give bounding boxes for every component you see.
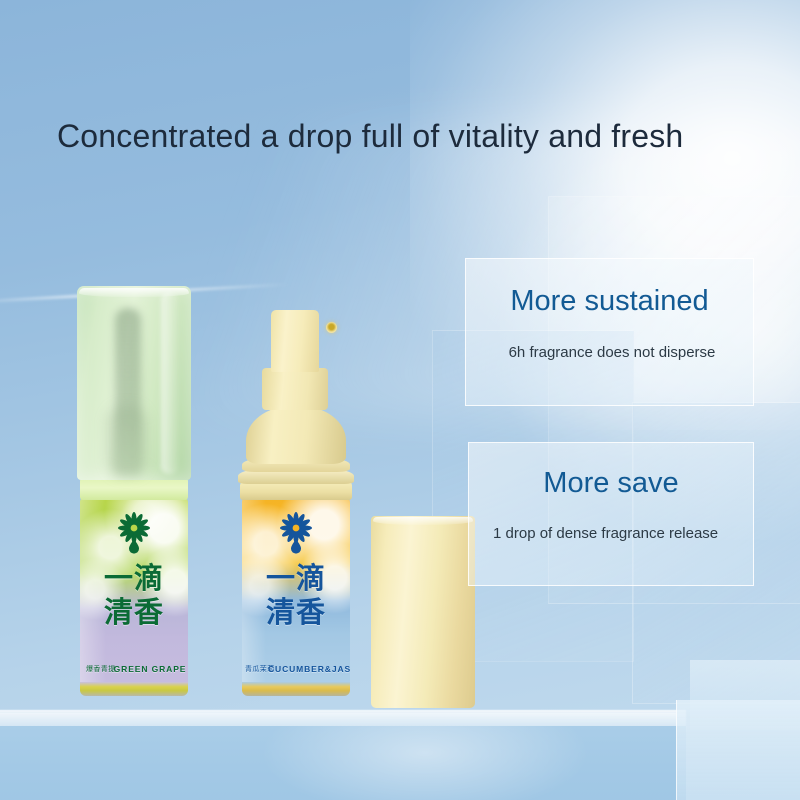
yellow-pump-shoulder (246, 406, 346, 464)
yellow-label-artwork: 一滴 清香 青瓜茉莉 CUCUMBER&JASMINE (242, 498, 350, 688)
yellow-bottle-base (242, 682, 350, 696)
green-cap-highlight (161, 292, 179, 474)
feature-card-more-save: More save 1 drop of dense fragrance rele… (468, 442, 754, 586)
card-background (466, 259, 753, 405)
feature-card-more-sustained: More sustained 6h fragrance does not dis… (465, 258, 754, 406)
yellow-pump-nozzle[interactable] (271, 310, 319, 372)
podium-reflection (260, 726, 590, 800)
yellow-brand-line1: 一滴 (242, 564, 350, 593)
green-flavor-en: GREEN GRAPE (100, 664, 188, 674)
card-title: More save (469, 467, 753, 500)
green-brand-line2: 清香 (80, 598, 188, 627)
green-pump-silhouette-base (107, 406, 147, 476)
chrysanthemum-droplet-icon (276, 512, 316, 556)
cream-cap-top-rim (373, 517, 473, 525)
loose-cream-cap[interactable] (371, 516, 475, 708)
page-headline: Concentrated a drop full of vitality and… (57, 118, 757, 155)
spray-nozzle-hole-icon (326, 322, 337, 333)
card-title: More sustained (466, 285, 753, 318)
green-label-artwork: 一滴 清香 爆香青提 GREEN GRAPE (80, 498, 188, 688)
chrysanthemum-droplet-icon (114, 512, 154, 556)
cream-cap-body (371, 516, 475, 708)
green-bottle-cap[interactable] (77, 286, 191, 480)
product-bottle-cucumber-jasmine[interactable]: 一滴 清香 青瓜茉莉 CUCUMBER&JASMINE (234, 310, 358, 704)
product-ad-scene: Concentrated a drop full of vitality and… (0, 0, 800, 800)
green-bottle-base (80, 682, 188, 696)
green-bottle-collar (80, 478, 188, 500)
product-bottle-green-grape[interactable]: 一滴 清香 爆香青提 GREEN GRAPE (77, 286, 191, 704)
yellow-brand-line2: 清香 (242, 598, 350, 627)
yellow-bottle-label: 一滴 清香 青瓜茉莉 CUCUMBER&JASMINE (242, 498, 350, 688)
card-subtitle: 6h fragrance does not disperse (487, 344, 737, 363)
card-subtitle: 1 drop of dense fragrance release (493, 525, 733, 544)
card-background (469, 443, 753, 585)
green-brand-line1: 一滴 (80, 564, 188, 593)
yellow-flavor-en: CUCUMBER&JASMINE (268, 664, 350, 674)
green-bottle-label: 一滴 清香 爆香青提 GREEN GRAPE (80, 498, 188, 688)
green-cap-top-rim (79, 288, 189, 297)
yellow-pump-neck (262, 368, 328, 410)
podium-side-face (676, 700, 800, 800)
